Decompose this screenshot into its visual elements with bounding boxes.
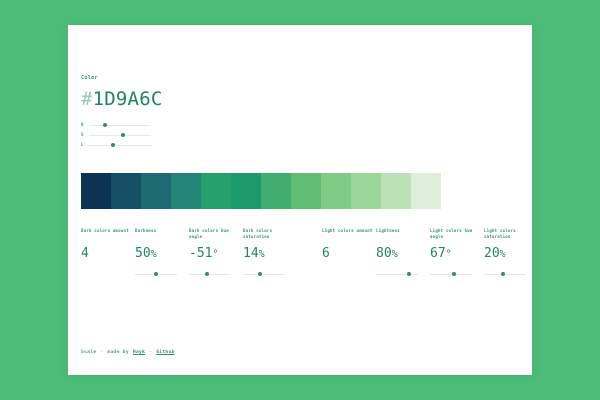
- footer-author-link[interactable]: Hayk: [133, 349, 145, 357]
- light-control-value: 67°: [430, 245, 482, 264]
- color-palette-strip[interactable]: [81, 173, 441, 209]
- light-control-value: 80%: [376, 245, 428, 264]
- lightness-slider-thumb[interactable]: [111, 143, 115, 147]
- light-control-slider-track[interactable]: [430, 269, 472, 279]
- hue-slider-track[interactable]: [89, 120, 151, 130]
- light-colors-control-group: Light colors amount6Lightness80%Light co…: [322, 228, 538, 279]
- dark-control-unit: °: [212, 249, 218, 260]
- light-control-0: Light colors amount6: [322, 228, 374, 279]
- footer-separator-1: ·: [100, 349, 103, 357]
- dark-control-value: 50%: [135, 245, 187, 264]
- light-control-2: Light colors hue angle67°: [430, 228, 482, 279]
- dark-control-slider-track[interactable]: [243, 269, 285, 279]
- hsl-slider-lightness[interactable]: L: [81, 140, 461, 150]
- dark-control-0: Dark colors amount4: [81, 228, 133, 279]
- palette-swatch[interactable]: [141, 173, 171, 209]
- palette-swatch[interactable]: [81, 173, 111, 209]
- hsl-slider-list: H S L: [81, 120, 461, 150]
- dark-control-slider-track[interactable]: [189, 269, 231, 279]
- footer: Scale · made by Hayk · Github: [81, 349, 175, 357]
- color-field-label: Color: [81, 75, 461, 82]
- dark-control-slider-track[interactable]: [135, 269, 177, 279]
- dark-control-value: 4: [81, 245, 133, 263]
- palette-swatch[interactable]: [231, 173, 261, 209]
- palette-swatch[interactable]: [381, 173, 411, 209]
- saturation-slider-thumb[interactable]: [121, 133, 125, 137]
- footer-app-name: Scale: [81, 349, 96, 357]
- hex-hash-symbol: #: [81, 88, 93, 110]
- dark-colors-control-group: Dark colors amount4Darkness50%Dark color…: [81, 228, 297, 279]
- dark-control-label: Darkness: [135, 228, 187, 241]
- light-control-slider-track[interactable]: [376, 269, 418, 279]
- dark-control-1: Darkness50%: [135, 228, 187, 279]
- light-control-label: Lightness: [376, 228, 428, 241]
- color-scale-card: Color #1D9A6C H S L: [68, 25, 532, 375]
- light-control-slider-thumb[interactable]: [452, 272, 456, 276]
- hue-label: H: [81, 120, 89, 130]
- hsl-slider-hue[interactable]: H: [81, 120, 461, 130]
- palette-swatch[interactable]: [351, 173, 381, 209]
- footer-separator-2: ·: [149, 349, 152, 357]
- hsl-slider-saturation[interactable]: S: [81, 130, 461, 140]
- light-control-value: 20%: [484, 245, 536, 264]
- light-control-label: Light colors amount: [322, 228, 374, 241]
- light-control-3: Light colors saturation20%: [484, 228, 536, 279]
- hue-slider-thumb[interactable]: [103, 123, 107, 127]
- color-hex-value[interactable]: #1D9A6C: [81, 88, 461, 110]
- palette-swatch[interactable]: [261, 173, 291, 209]
- palette-swatch[interactable]: [201, 173, 231, 209]
- controls-row: Dark colors amount4Darkness50%Dark color…: [81, 228, 506, 283]
- light-control-label: Light colors saturation: [484, 228, 536, 241]
- dark-control-unit: %: [151, 249, 157, 260]
- light-control-slider-thumb[interactable]: [501, 272, 505, 276]
- palette-swatch[interactable]: [291, 173, 321, 209]
- dark-control-2: Dark colors hue angle-51°: [189, 228, 241, 279]
- dark-control-3: Dark colors saturation14%: [243, 228, 295, 279]
- dark-control-slider-thumb[interactable]: [205, 272, 209, 276]
- lightness-label: L: [81, 140, 89, 150]
- light-control-unit: %: [500, 249, 506, 260]
- palette-swatch[interactable]: [411, 173, 441, 209]
- palette-swatch[interactable]: [171, 173, 201, 209]
- dark-control-unit: %: [259, 249, 265, 260]
- footer-github-link[interactable]: Github: [156, 349, 174, 357]
- light-control-1: Lightness80%: [376, 228, 428, 279]
- light-control-label: Light colors hue angle: [430, 228, 482, 241]
- light-control-slider-thumb[interactable]: [407, 272, 411, 276]
- light-control-unit: %: [392, 249, 398, 260]
- dark-control-label: Dark colors saturation: [243, 228, 295, 241]
- hex-digits: 1D9A6C: [93, 88, 163, 110]
- light-control-value: 6: [322, 245, 374, 263]
- lightness-slider-track[interactable]: [89, 140, 151, 150]
- color-section: Color #1D9A6C H S L: [81, 75, 461, 150]
- light-control-unit: °: [446, 249, 452, 260]
- dark-control-label: Dark colors amount: [81, 228, 133, 241]
- footer-made-by-text: made by: [107, 349, 128, 357]
- palette-swatch[interactable]: [111, 173, 141, 209]
- saturation-slider-track[interactable]: [89, 130, 151, 140]
- app-root: Color #1D9A6C H S L: [0, 0, 600, 400]
- light-control-slider-track[interactable]: [484, 269, 526, 279]
- dark-control-value: -51°: [189, 245, 241, 264]
- dark-control-value: 14%: [243, 245, 295, 264]
- palette-swatch[interactable]: [321, 173, 351, 209]
- dark-control-slider-thumb[interactable]: [258, 272, 262, 276]
- dark-control-label: Dark colors hue angle: [189, 228, 241, 241]
- saturation-label: S: [81, 130, 89, 140]
- dark-control-slider-thumb[interactable]: [154, 272, 158, 276]
